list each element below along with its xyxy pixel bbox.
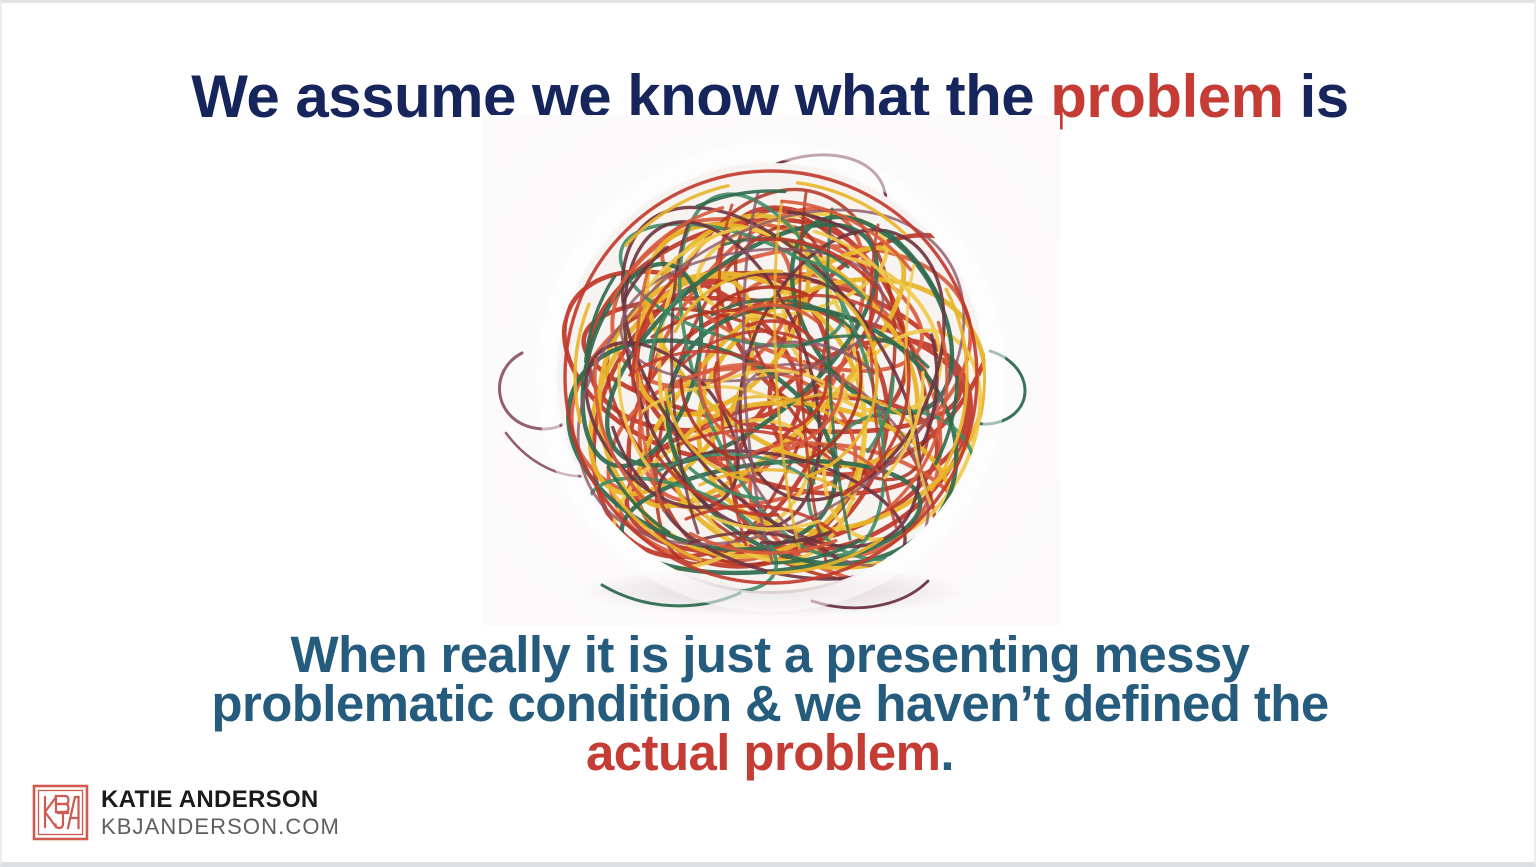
- caption-line-2: problematic condition & we haven’t defin…: [62, 680, 1478, 729]
- brand-logo[interactable]: KATIE ANDERSON KBJANDERSON.COM: [32, 784, 340, 841]
- tangled-rubber-band-ball-image: [482, 115, 1060, 625]
- caption-highlight-actual-problem: actual problem: [586, 724, 940, 781]
- brand-logo-text: KATIE ANDERSON KBJANDERSON.COM: [101, 788, 340, 838]
- kbja-monogram-icon: [32, 784, 89, 841]
- brand-website: KBJANDERSON.COM: [101, 816, 340, 838]
- title-highlight-problem: problem: [1050, 63, 1283, 130]
- slide-caption: When really it is just a presenting mess…: [62, 631, 1478, 778]
- brand-name: KATIE ANDERSON: [101, 788, 340, 812]
- caption-period: .: [940, 724, 954, 781]
- caption-line-3: actual problem.: [62, 729, 1478, 778]
- caption-line-1: When really it is just a presenting mess…: [62, 631, 1478, 680]
- title-part-3: is: [1283, 63, 1348, 130]
- slide-canvas: We assume we know what the problem is: [0, 0, 1536, 867]
